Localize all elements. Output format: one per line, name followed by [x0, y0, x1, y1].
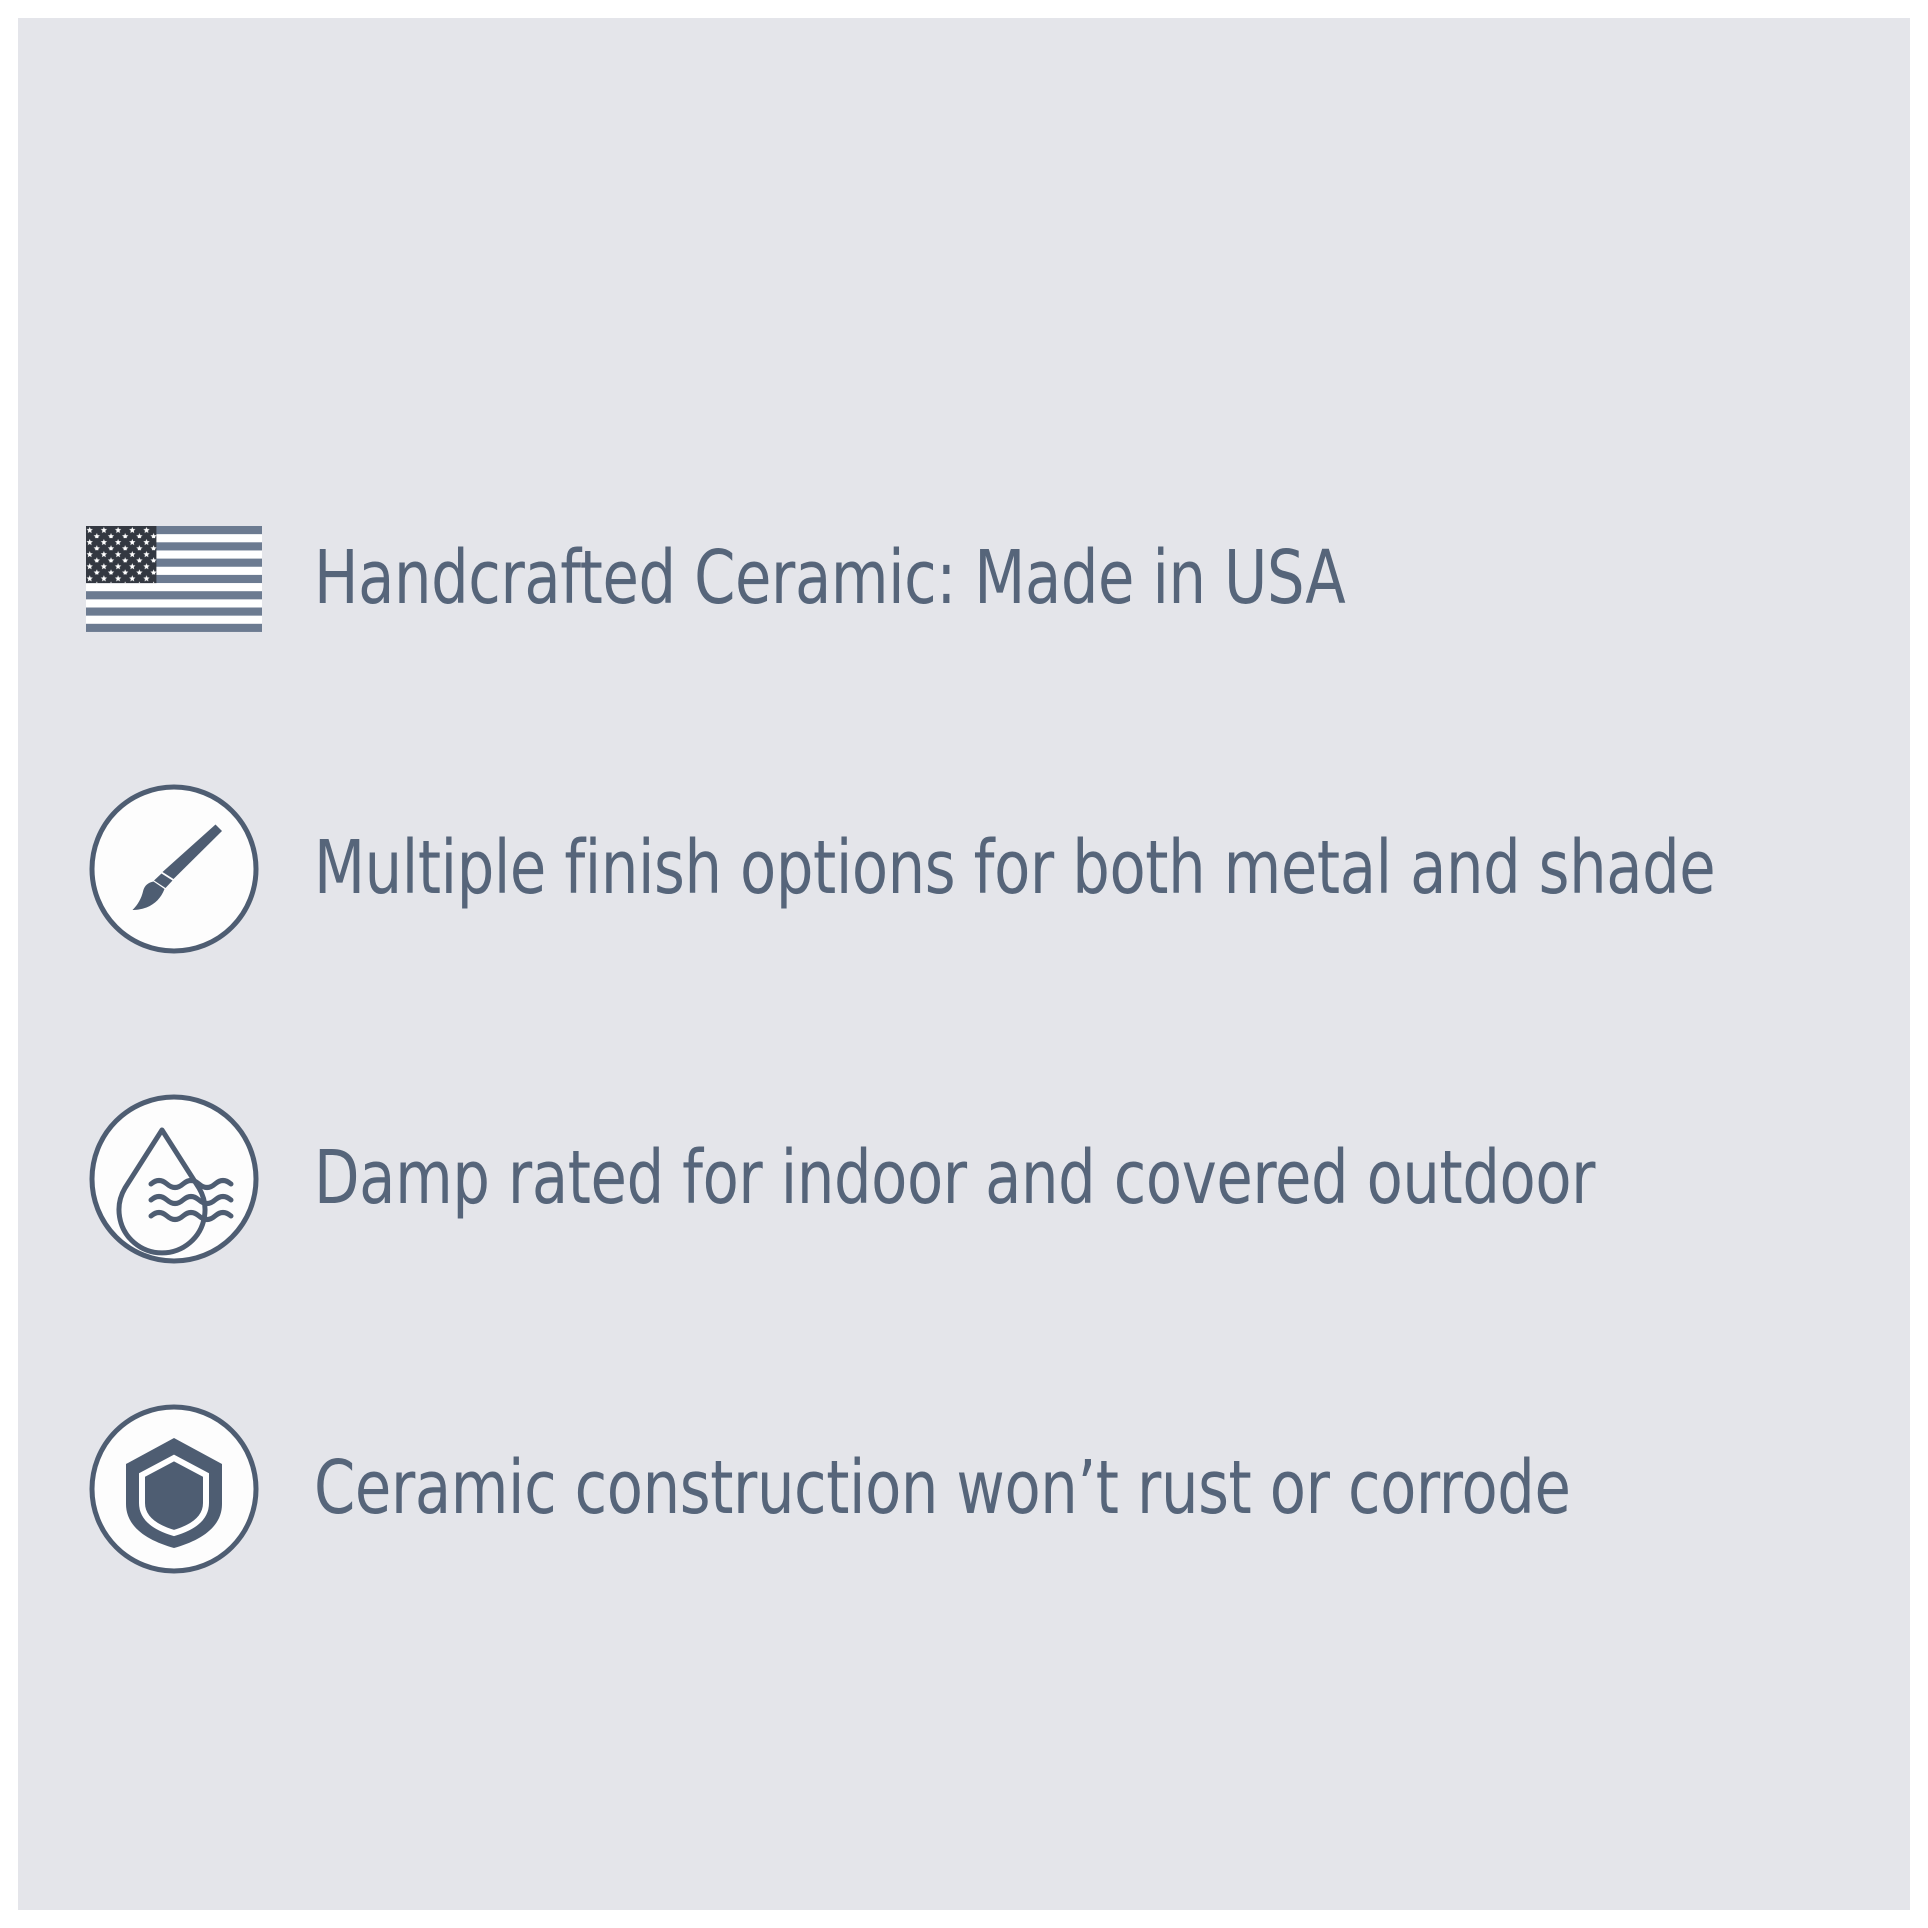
feature-label: Damp rated for indoor and covered outdoo…: [314, 1140, 1595, 1218]
feature-panel: Handcrafted Ceramic: Made in USA Multipl…: [18, 18, 1910, 1910]
shield-icon: [87, 1402, 261, 1576]
icon-slot: [86, 1401, 262, 1577]
feature-list: Handcrafted Ceramic: Made in USA Multipl…: [18, 18, 1910, 1910]
water-drop-waves-icon: [87, 1092, 261, 1266]
paintbrush-icon: [87, 782, 261, 956]
icon-slot: [86, 781, 262, 957]
feature-row: Damp rated for indoor and covered outdoo…: [86, 1084, 1886, 1274]
feature-row: Handcrafted Ceramic: Made in USA: [86, 484, 1886, 674]
feature-label: Ceramic construction won’t rust or corro…: [314, 1450, 1570, 1528]
usa-flag-icon: [86, 526, 262, 632]
icon-slot: [86, 1091, 262, 1267]
feature-row: Multiple finish options for both metal a…: [86, 774, 1886, 964]
feature-row: Ceramic construction won’t rust or corro…: [86, 1394, 1886, 1584]
feature-label: Multiple finish options for both metal a…: [314, 830, 1715, 908]
icon-slot: [86, 491, 262, 667]
feature-label: Handcrafted Ceramic: Made in USA: [314, 540, 1345, 618]
